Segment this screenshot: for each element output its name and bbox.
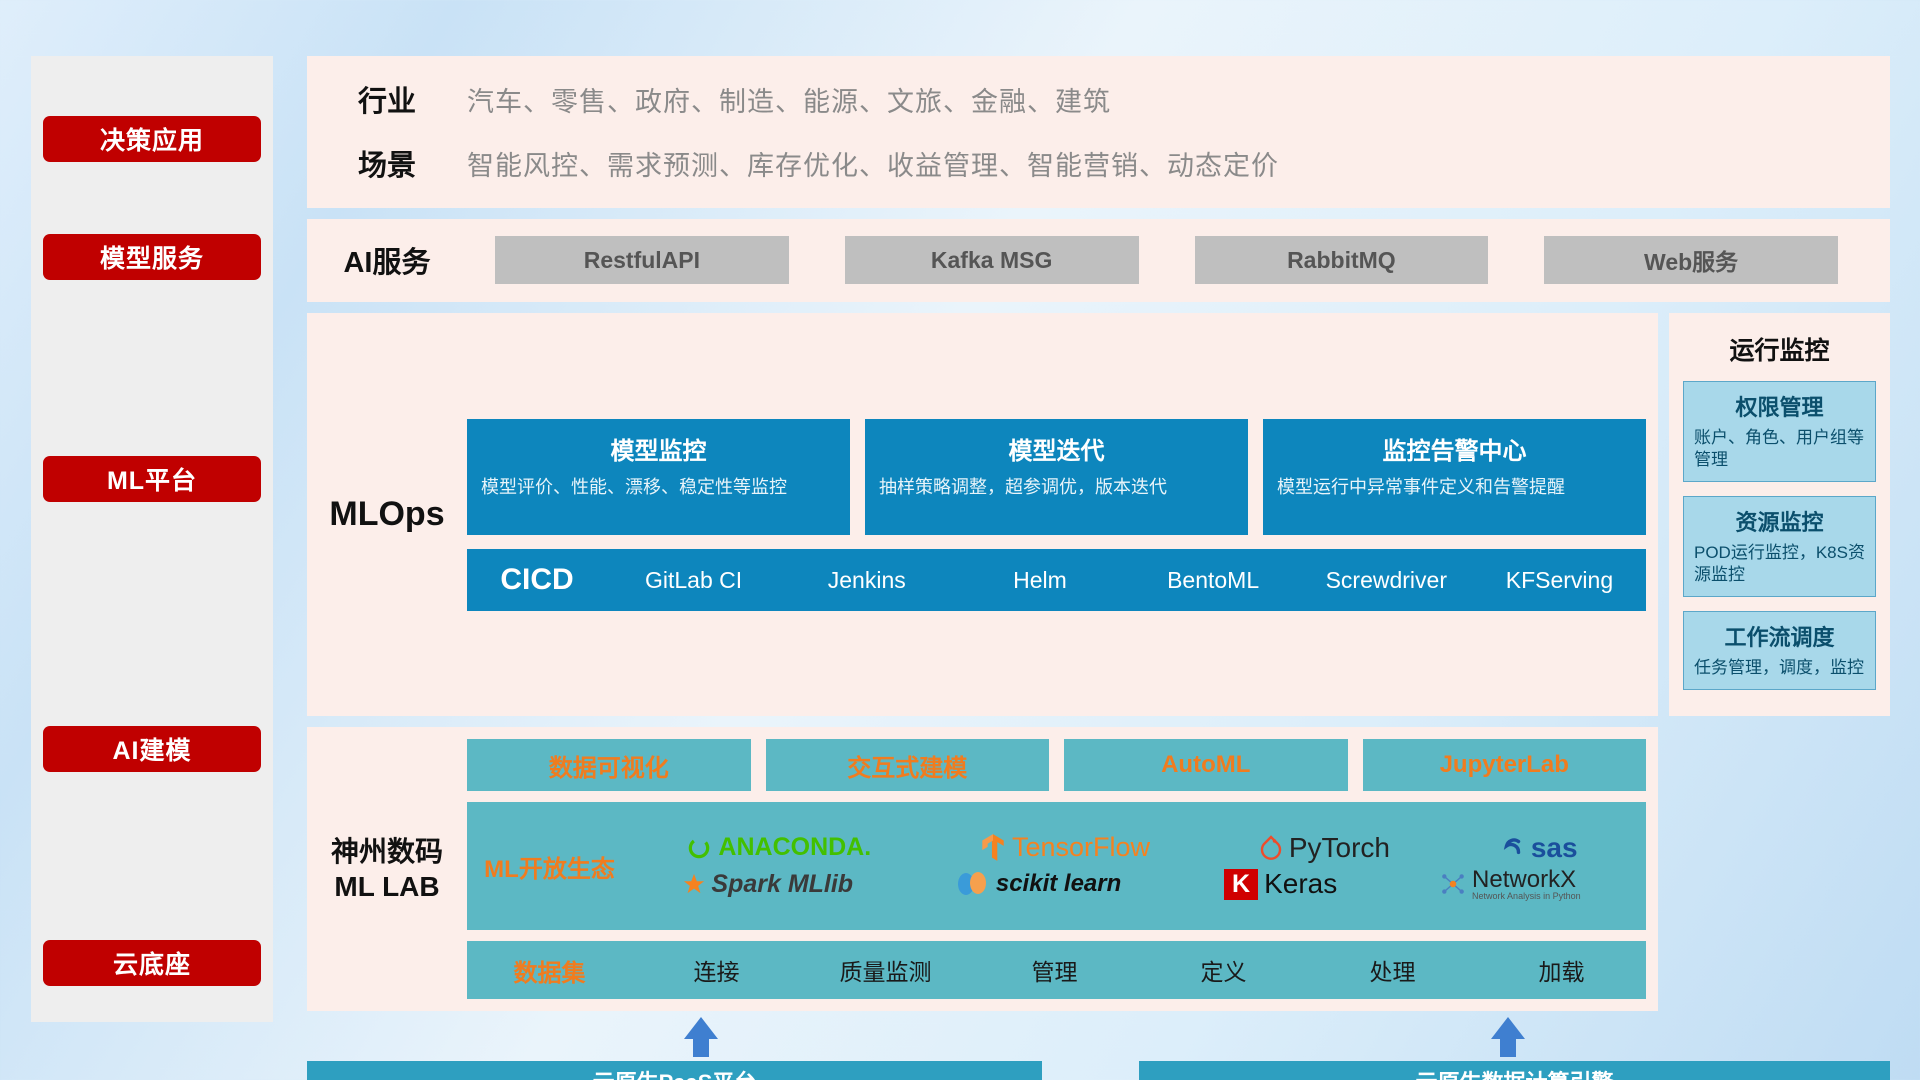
ai-service-restfulapi[interactable]: RestfulAPI <box>495 236 789 284</box>
left-rail: 决策应用 模型服务 ML平台 AI建模 <box>31 56 273 1022</box>
card-title: 工作流调度 <box>1694 620 1865 652</box>
cicd-item-list: GitLab CI Jenkins Helm BentoML Screwdriv… <box>607 568 1646 592</box>
main-column: 行业 汽车、零售、政府、制造、能源、文旅、金融、建筑 场景 智能风控、需求预测、… <box>307 56 1890 1080</box>
mlops-card-model-monitoring[interactable]: 模型监控 模型评价、性能、漂移、稳定性等监控 <box>467 419 850 535</box>
cicd-label: CICD <box>467 563 607 597</box>
ml-platform-band: MLOps 模型监控 模型评价、性能、漂移、稳定性等监控 模型迭代 抽样策略调整… <box>307 313 1890 716</box>
cicd-item-jenkins[interactable]: Jenkins <box>780 568 953 592</box>
card-title: 模型监控 <box>481 431 836 466</box>
cloud-base-band: 云原生PaaS平台 Nginx Kong Istio RocketMQ GRPC… <box>307 1025 1890 1080</box>
ml-lab-label-line2: ML LAB <box>307 869 467 904</box>
cicd-row: CICD GitLab CI Jenkins Helm BentoML Scre… <box>467 549 1646 611</box>
pytorch-label: PyTorch <box>1289 832 1390 864</box>
ecosystem-logo-row-2: Spark MLlib scikit learn <box>632 868 1632 901</box>
tensorflow-logo: TensorFlow <box>980 832 1150 863</box>
cicd-item-kfserving[interactable]: KFServing <box>1473 568 1646 592</box>
dataset-item-definition[interactable]: 定义 <box>1139 953 1308 987</box>
industry-row: 行业 汽车、零售、政府、制造、能源、文旅、金融、建筑 <box>307 78 1890 120</box>
ai-modeling-band: 神州数码 ML LAB 数据可视化 交互式建模 AutoML JupyterLa… <box>307 727 1890 1011</box>
dataset-item-loading[interactable]: 加载 <box>1477 953 1646 987</box>
ml-lab-section: 神州数码 ML LAB 数据可视化 交互式建模 AutoML JupyterLa… <box>307 727 1658 1011</box>
monitor-card-permission[interactable]: 权限管理 账户、角色、用户组等管理 <box>1683 381 1876 482</box>
tensorflow-icon <box>980 833 1006 863</box>
mlops-label: MLOps <box>307 495 467 534</box>
right-arrow-up-icon <box>1491 1017 1525 1039</box>
runtime-monitor-title: 运行监控 <box>1729 331 1829 367</box>
cicd-item-helm[interactable]: Helm <box>953 568 1126 592</box>
lab-right-spacer <box>1669 727 1890 1011</box>
anaconda-logo: ANACONDA. <box>686 833 871 862</box>
sas-label: sas <box>1531 832 1578 864</box>
diagram-canvas: 决策应用 模型服务 ML平台 AI建模 云底座 行业 汽车、零售、政府、制造、能… <box>0 0 1920 1080</box>
card-desc: 抽样策略调整，超参调优，版本迭代 <box>879 475 1234 499</box>
mlops-body: 模型监控 模型评价、性能、漂移、稳定性等监控 模型迭代 抽样策略调整，超参调优，… <box>467 419 1658 611</box>
anaconda-label: ANACONDA. <box>718 833 871 862</box>
mlops-card-model-iteration[interactable]: 模型迭代 抽样策略调整，超参调优，版本迭代 <box>865 419 1248 535</box>
mlops-card-alert-center[interactable]: 监控告警中心 模型运行中异常事件定义和告警提醒 <box>1263 419 1646 535</box>
cloud-paas-column: 云原生PaaS平台 Nginx Kong Istio RocketMQ GRPC… <box>307 1061 1042 1080</box>
networkx-logo: NetworkX Network Analysis in Python <box>1440 868 1581 901</box>
industry-label: 行业 <box>307 78 467 120</box>
rail-item-ai-modeling[interactable]: AI建模 <box>43 726 261 772</box>
ml-lab-tab-list: 数据可视化 交互式建模 AutoML JupyterLab <box>467 739 1646 791</box>
dataset-item-connect[interactable]: 连接 <box>632 953 801 987</box>
card-desc: POD运行监控，K8S资源监控 <box>1694 542 1865 586</box>
card-desc: 任务管理，调度，监控 <box>1694 657 1865 679</box>
rail-item-ml-platform[interactable]: ML平台 <box>43 456 261 502</box>
rail-item-model-service[interactable]: 模型服务 <box>43 234 261 280</box>
keras-label: Keras <box>1264 868 1337 900</box>
ai-services-list: RestfulAPI Kafka MSG RabbitMQ Web服务 <box>467 236 1890 284</box>
tensorflow-label: TensorFlow <box>1012 832 1150 863</box>
ai-service-rabbitmq[interactable]: RabbitMQ <box>1195 236 1489 284</box>
ai-services-label: AI服务 <box>307 239 467 281</box>
industry-value: 汽车、零售、政府、制造、能源、文旅、金融、建筑 <box>467 80 1111 119</box>
tab-automl[interactable]: AutoML <box>1064 739 1348 791</box>
ai-service-web[interactable]: Web服务 <box>1544 236 1838 284</box>
keras-logo: K Keras <box>1224 868 1337 900</box>
tab-data-visualization[interactable]: 数据可视化 <box>467 739 751 791</box>
ml-lab-label-line1: 神州数码 <box>307 834 467 869</box>
scenario-label: 场景 <box>307 142 467 184</box>
tab-jupyterlab[interactable]: JupyterLab <box>1363 739 1647 791</box>
keras-icon: K <box>1224 869 1258 900</box>
dataset-item-quality-monitoring[interactable]: 质量监测 <box>801 953 970 987</box>
ml-lab-label: 神州数码 ML LAB <box>307 834 467 904</box>
ai-service-kafka-msg[interactable]: Kafka MSG <box>845 236 1139 284</box>
ml-ecosystem-label: ML开放生态 <box>467 849 632 884</box>
ecosystem-logo-row-1: ANACONDA. TensorFlow <box>632 832 1632 864</box>
ai-services-band: AI服务 RestfulAPI Kafka MSG RabbitMQ Web服务 <box>307 219 1890 302</box>
decision-apps-band: 行业 汽车、零售、政府、制造、能源、文旅、金融、建筑 场景 智能风控、需求预测、… <box>307 56 1890 208</box>
dataset-item-list: 连接 质量监测 管理 定义 处理 加载 <box>632 953 1646 987</box>
sas-icon <box>1499 835 1525 861</box>
runtime-monitor-panel: 运行监控 权限管理 账户、角色、用户组等管理 资源监控 POD运行监控，K8S资… <box>1669 313 1890 716</box>
monitor-card-workflow[interactable]: 工作流调度 任务管理，调度，监控 <box>1683 611 1876 690</box>
card-title: 监控告警中心 <box>1277 431 1632 466</box>
networkx-subtitle: Network Analysis in Python <box>1472 892 1581 901</box>
tab-interactive-modeling[interactable]: 交互式建模 <box>766 739 1050 791</box>
cloud-compute-bar: 云原生数据计算引擎 <box>1139 1061 1890 1080</box>
card-title: 权限管理 <box>1694 390 1865 422</box>
sas-logo: sas <box>1499 832 1578 864</box>
anaconda-icon <box>686 835 712 861</box>
mlops-card-list: 模型监控 模型评价、性能、漂移、稳定性等监控 模型迭代 抽样策略调整，超参调优，… <box>467 419 1646 535</box>
left-arrow-up-icon <box>684 1017 718 1039</box>
cloud-compute-column: 云原生数据计算引擎 Kafka Spark Presto Flink Hadoo… <box>1139 1061 1890 1080</box>
rail-item-cloud-base[interactable]: 云底座 <box>43 940 261 986</box>
dataset-row: 数据集 连接 质量监测 管理 定义 处理 加载 <box>467 941 1646 999</box>
dataset-item-processing[interactable]: 处理 <box>1308 953 1477 987</box>
spark-mllib-logo: Spark MLlib <box>683 870 853 899</box>
networkx-label: NetworkX <box>1472 868 1581 892</box>
rail-item-decision-apps[interactable]: 决策应用 <box>43 116 261 162</box>
dataset-label: 数据集 <box>467 953 632 988</box>
card-desc: 模型运行中异常事件定义和告警提醒 <box>1277 475 1632 499</box>
card-title: 模型迭代 <box>879 431 1234 466</box>
pytorch-icon <box>1259 835 1283 861</box>
dataset-item-management[interactable]: 管理 <box>970 953 1139 987</box>
scikit-learn-icon <box>956 871 990 897</box>
scenario-row: 场景 智能风控、需求预测、库存优化、收益管理、智能营销、动态定价 <box>307 142 1890 184</box>
scikit-learn-logo: scikit learn <box>956 870 1121 898</box>
cicd-item-bentoml[interactable]: BentoML <box>1127 568 1300 592</box>
ml-ecosystem-logos: ANACONDA. TensorFlow <box>632 826 1646 907</box>
spark-mllib-label: Spark MLlib <box>711 870 853 899</box>
monitor-card-resource[interactable]: 资源监控 POD运行监控，K8S资源监控 <box>1683 496 1876 597</box>
ml-lab-body: 数据可视化 交互式建模 AutoML JupyterLab ML开放生态 <box>467 739 1658 999</box>
cicd-item-screwdriver[interactable]: Screwdriver <box>1300 568 1473 592</box>
card-desc: 模型评价、性能、漂移、稳定性等监控 <box>481 475 836 499</box>
ml-ecosystem-row: ML开放生态 ANACONDA. <box>467 802 1646 930</box>
scenario-value: 智能风控、需求预测、库存优化、收益管理、智能营销、动态定价 <box>467 144 1279 183</box>
spark-star-icon <box>683 873 705 895</box>
card-title: 资源监控 <box>1694 505 1865 537</box>
cicd-item-gitlab-ci[interactable]: GitLab CI <box>607 568 780 592</box>
pytorch-logo: PyTorch <box>1259 832 1390 864</box>
cloud-paas-bar: 云原生PaaS平台 <box>307 1061 1042 1080</box>
mlops-section: MLOps 模型监控 模型评价、性能、漂移、稳定性等监控 模型迭代 抽样策略调整… <box>307 313 1658 716</box>
card-desc: 账户、角色、用户组等管理 <box>1694 427 1865 471</box>
networkx-icon <box>1440 871 1466 897</box>
scikit-learn-label: scikit learn <box>996 870 1121 898</box>
